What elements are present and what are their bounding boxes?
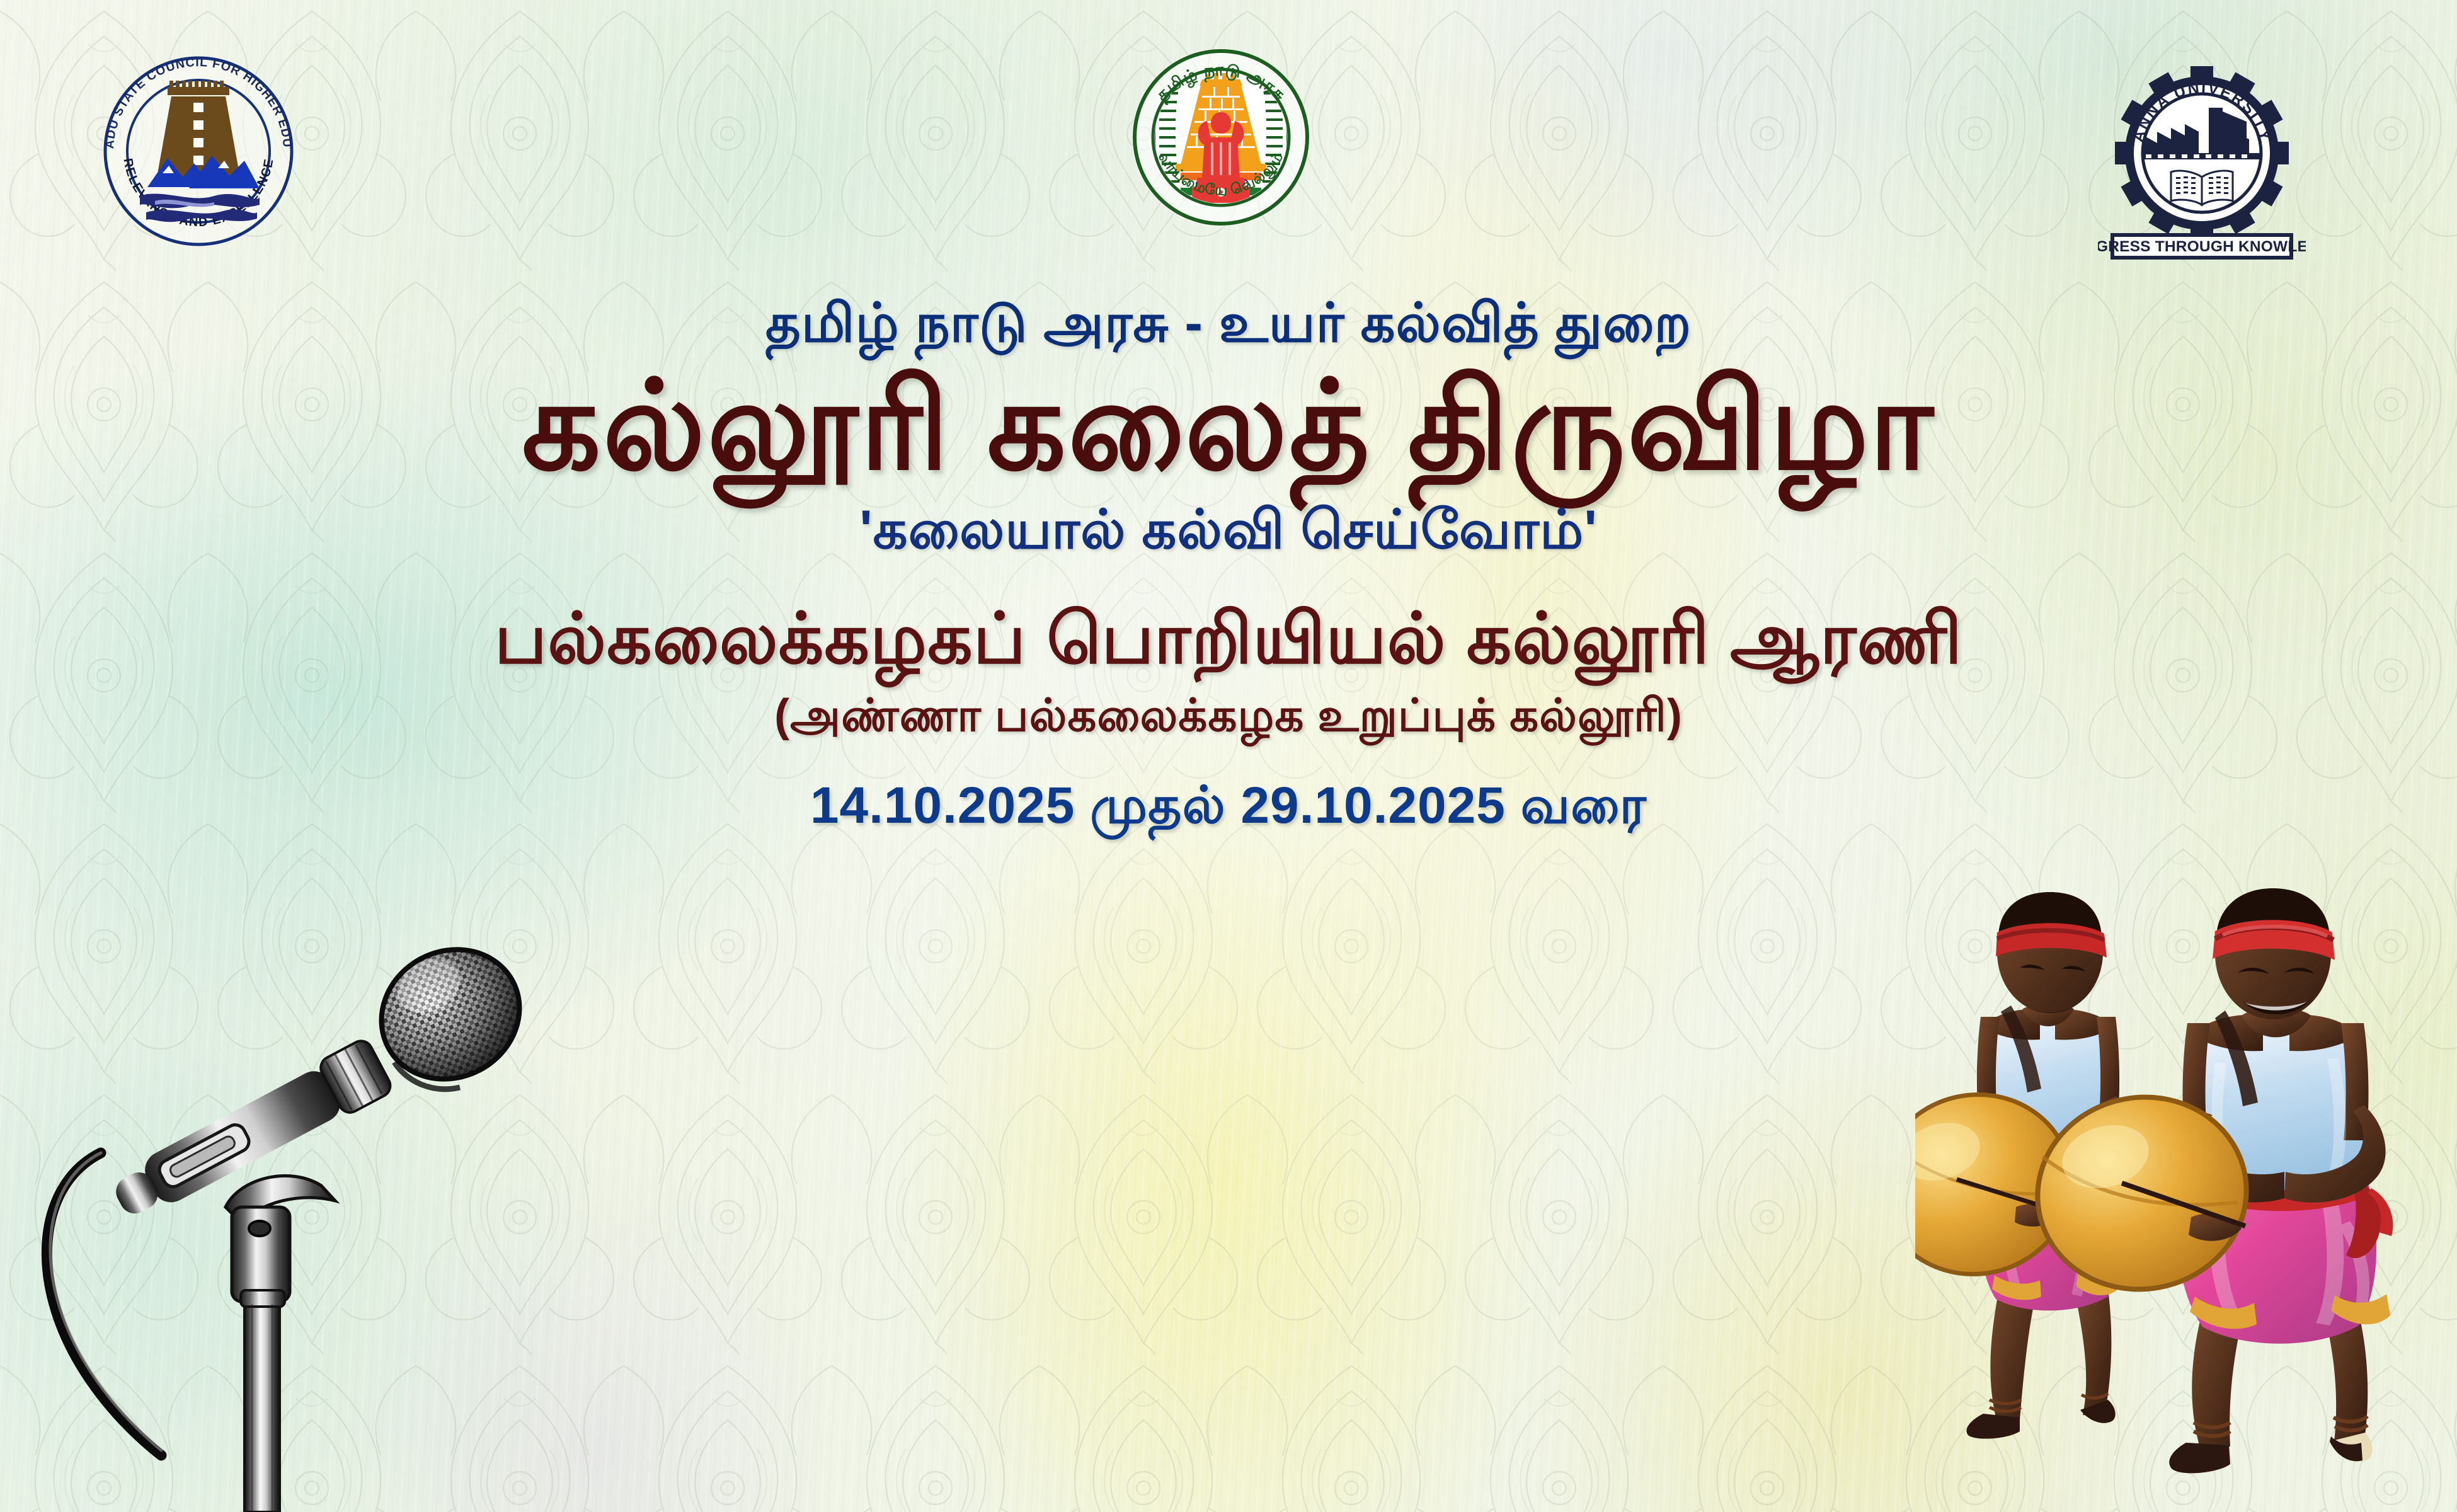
- microphone-on-stand-sketch: [25, 901, 542, 1512]
- department-line: தமிழ் நாடு அரசு - உயர் கல்வித் துறை: [0, 296, 2457, 350]
- college-affiliation: (அண்ணா பல்கலைக்கழக உறுப்புக் கல்லூரி): [0, 693, 2457, 738]
- event-banner: TAMILNADU STATE COUNCIL FOR HIGHER EDUCA…: [0, 0, 2457, 1512]
- tamil-nadu-government-emblem: தமிழ் நாடு அரசு வாய்மையே வெல்லும்: [1126, 38, 1315, 239]
- banner-text-block: தமிழ் நாடு அரசு - உயர் கல்வித் துறை கல்ல…: [0, 296, 2457, 832]
- svg-text:PROGRESS THROUGH KNOWLEDGE: PROGRESS THROUGH KNOWLEDGE: [2098, 238, 2306, 255]
- event-title: கல்லூரி கலைத் திருவிழா: [0, 364, 2457, 488]
- event-tagline: 'கலையால் கல்வி செய்வோம்': [0, 503, 2457, 557]
- parai-drummers-painting: [1915, 832, 2457, 1512]
- tansche-logo: TAMILNADU STATE COUNCIL FOR HIGHER EDUCA…: [94, 47, 302, 255]
- event-dates: 14.10.2025 முதல் 29.10.2025 வரை: [0, 780, 2457, 832]
- anna-university-logo: ANNA UNIVERSITY PROGRESS THROUGH KNOWLED…: [2098, 47, 2306, 265]
- college-name: பல்கலைக்கழகப் பொறியியல் கல்லூரி ஆரணி: [0, 604, 2457, 674]
